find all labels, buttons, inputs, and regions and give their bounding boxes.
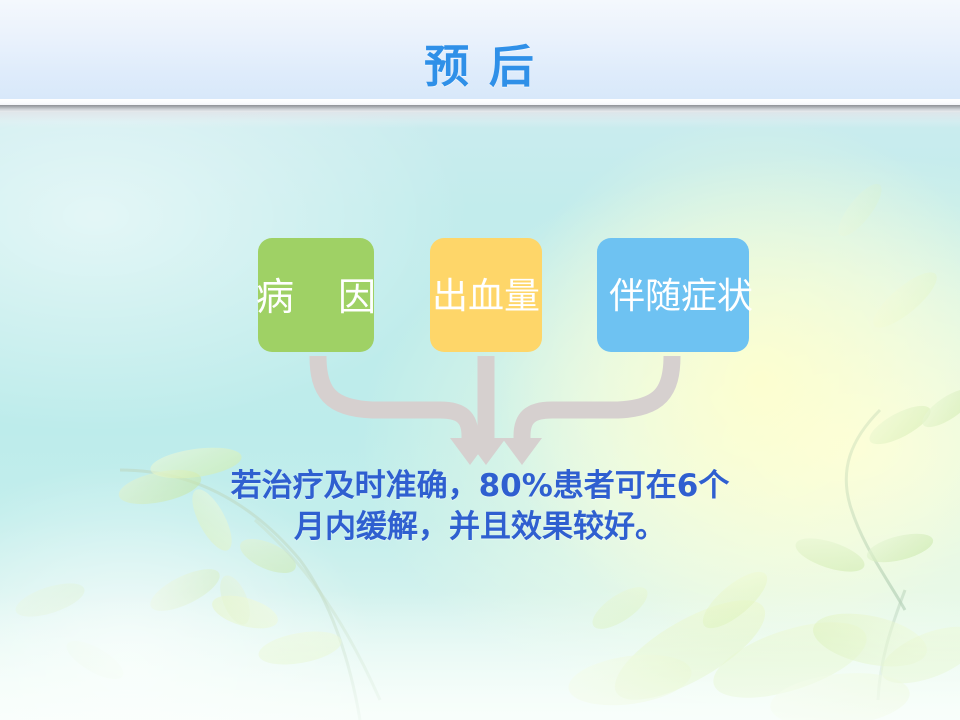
slide-canvas: 预 后 病 因 出血量 伴随症状 若治疗及时准确，80%患者可在6个: [0, 0, 960, 720]
arrow-right-head: [502, 438, 542, 465]
concept-box-bleeding-volume-label: 出血量: [432, 279, 540, 315]
concept-box-cause-label: 病 因: [240, 278, 392, 316]
conclusion-line-1: 若治疗及时准确，80%患者可在6个: [150, 466, 810, 507]
arrow-left-path: [318, 356, 470, 444]
concept-box-cause[interactable]: 病 因: [258, 238, 374, 352]
conclusion-text: 若治疗及时准确，80%患者可在6个 月内缓解，并且效果较好。: [150, 466, 810, 548]
concept-box-accompanying-symptoms[interactable]: 伴随症状: [597, 238, 749, 352]
conclusion-line-2: 月内缓解，并且效果较好。: [150, 507, 810, 548]
concept-box-bleeding-volume[interactable]: 出血量: [430, 238, 542, 352]
concept-box-accompanying-symptoms-label: 伴随症状: [609, 279, 753, 315]
arrow-right-path: [522, 356, 672, 444]
converging-arrows: [0, 352, 960, 472]
arrows-svg: [0, 352, 960, 472]
